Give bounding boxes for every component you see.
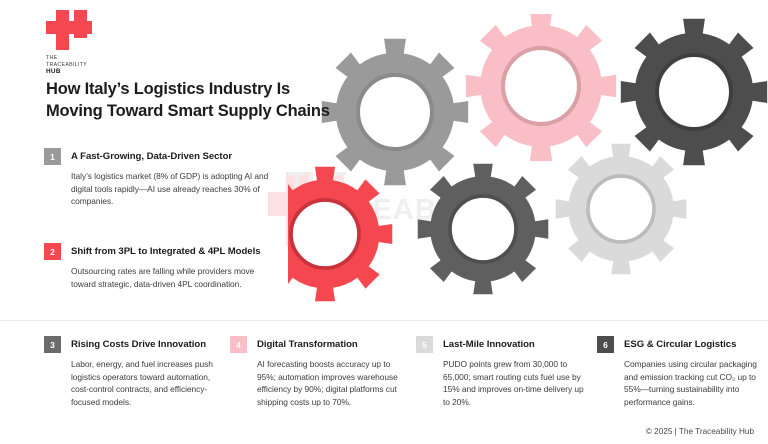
card-body-4: AI forecasting boosts accuracy up to 95%…	[257, 358, 405, 408]
footer-copyright: © 2025 | The Traceability Hub	[646, 427, 754, 436]
gear-pink	[466, 14, 616, 161]
badge-number-6: 6	[597, 336, 614, 353]
point-card-3: 3 Rising Costs Drive Innovation Labor, e…	[44, 336, 219, 408]
watermark-text: THE TRACEABILITY HUB	[288, 170, 513, 251]
gear-dark-right	[621, 19, 767, 165]
brand-line1: THE	[46, 55, 57, 61]
card-title-2: Shift from 3PL to Integrated & 4PL Model…	[71, 243, 261, 258]
point-card-6: 6 ESG & Circular Logistics Companies usi…	[597, 336, 763, 408]
brand-hub: HUB	[46, 68, 166, 75]
card-title-5: Last-Mile Innovation	[443, 336, 535, 351]
watermark-logo-icon	[268, 172, 354, 246]
card-header: 6 ESG & Circular Logistics	[597, 336, 763, 353]
card-body-6: Companies using circular packaging and e…	[624, 358, 763, 408]
section-divider	[0, 320, 768, 321]
gear-light-gray	[556, 144, 687, 275]
gear-cluster	[288, 14, 768, 314]
card-title-1: A Fast-Growing, Data-Driven Sector	[71, 148, 232, 163]
card-body-2: Outsourcing rates are falling while prov…	[71, 265, 274, 290]
brand: THETRACEABILITY HUB	[46, 10, 166, 75]
card-title-6: ESG & Circular Logistics	[624, 336, 736, 351]
point-card-1: 1 A Fast-Growing, Data-Driven Sector Ita…	[44, 148, 274, 208]
point-card-2: 2 Shift from 3PL to Integrated & 4PL Mod…	[44, 243, 274, 290]
card-header: 5 Last-Mile Innovation	[416, 336, 591, 353]
gear-red	[288, 167, 392, 302]
card-header: 3 Rising Costs Drive Innovation	[44, 336, 219, 353]
card-header: 4 Digital Transformation	[230, 336, 405, 353]
badge-number-4: 4	[230, 336, 247, 353]
traceability-hub-logo-icon	[46, 10, 92, 50]
card-header: 2 Shift from 3PL to Integrated & 4PL Mod…	[44, 243, 274, 260]
point-card-5: 5 Last-Mile Innovation PUDO points grew …	[416, 336, 591, 408]
card-body-1: Italy’s logistics market (8% of GDP) is …	[71, 170, 274, 208]
badge-number-1: 1	[44, 148, 61, 165]
infographic-page: THE TRACEABILITY HUB THETRACEABILITY HUB…	[0, 0, 768, 444]
brand-name-line1: THETRACEABILITY	[46, 55, 166, 68]
watermark: THE TRACEABILITY HUB	[268, 150, 528, 270]
badge-number-3: 3	[44, 336, 61, 353]
badge-number-2: 2	[44, 243, 61, 260]
brand-line2: TRACEABILITY	[46, 62, 87, 68]
card-body-3: Labor, energy, and fuel increases push l…	[71, 358, 219, 408]
badge-number-5: 5	[416, 336, 433, 353]
card-header: 1 A Fast-Growing, Data-Driven Sector	[44, 148, 274, 165]
point-card-4: 4 Digital Transformation AI forecasting …	[230, 336, 405, 408]
card-title-3: Rising Costs Drive Innovation	[71, 336, 206, 351]
card-body-5: PUDO points grew from 30,000 to 65,000; …	[443, 358, 591, 408]
page-title: How Italy’s Logistics Industry Is Moving…	[46, 78, 376, 122]
card-title-4: Digital Transformation	[257, 336, 358, 351]
gear-dark-center	[418, 164, 549, 295]
